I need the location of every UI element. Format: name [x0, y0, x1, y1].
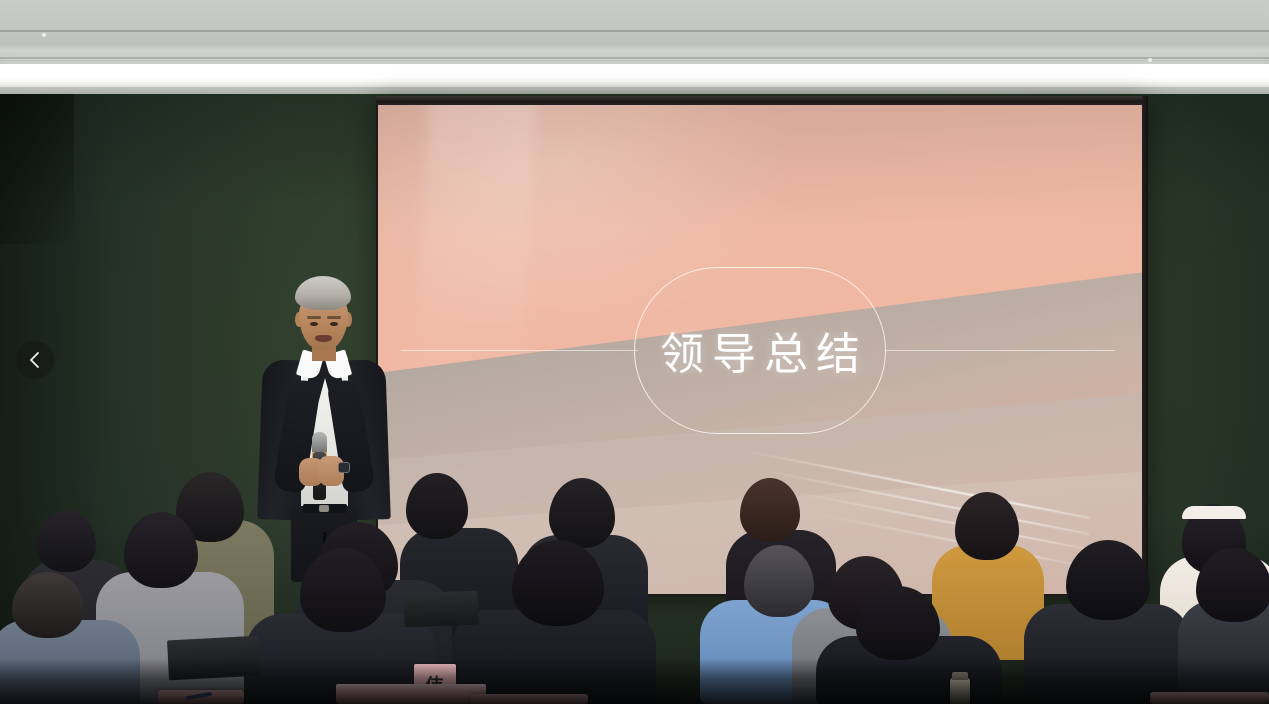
ceiling-seam	[0, 30, 1269, 32]
table-edge	[336, 684, 486, 690]
speaker-wristwatch	[338, 462, 350, 473]
speaker-eyebrow	[307, 316, 321, 319]
person-mid-6-headband	[1182, 506, 1246, 519]
slide-rule-right	[886, 350, 1115, 351]
laptop	[403, 591, 478, 628]
conference-table	[1150, 692, 1269, 704]
photo-viewer-stage: 领导总结	[0, 0, 1269, 704]
microphone-head	[312, 432, 327, 454]
screen-top-frame	[376, 96, 1148, 105]
screen-right-frame	[1142, 96, 1148, 596]
speaker-hair	[295, 276, 351, 310]
water-bottle-cap	[952, 672, 968, 680]
ceiling-screw	[42, 33, 46, 37]
previous-photo-button[interactable]	[16, 341, 54, 379]
person-mid-3-head	[36, 510, 96, 572]
slide-rule-left	[401, 350, 638, 351]
chevron-left-icon	[28, 351, 42, 369]
wall-corner-shadow	[0, 94, 74, 244]
ceiling-seam	[0, 57, 1269, 59]
ceiling-seam	[0, 60, 1269, 61]
speaker-eyebrow	[327, 316, 341, 319]
slide-title-pill: 领导总结	[634, 267, 886, 433]
ceiling-screw	[1148, 58, 1152, 62]
speaker-eye	[310, 322, 318, 326]
speaker-mouth	[315, 335, 332, 342]
laptop	[167, 636, 261, 681]
speaker-eye	[330, 322, 338, 326]
person-front-6-head	[1196, 548, 1269, 622]
conference-table	[470, 694, 588, 704]
ceiling-light-strip	[0, 64, 1269, 87]
water-bottle	[950, 678, 970, 704]
speaker-belt-buckle	[319, 505, 329, 512]
ceiling	[0, 0, 1269, 96]
slide-title: 领导总结	[652, 318, 868, 382]
